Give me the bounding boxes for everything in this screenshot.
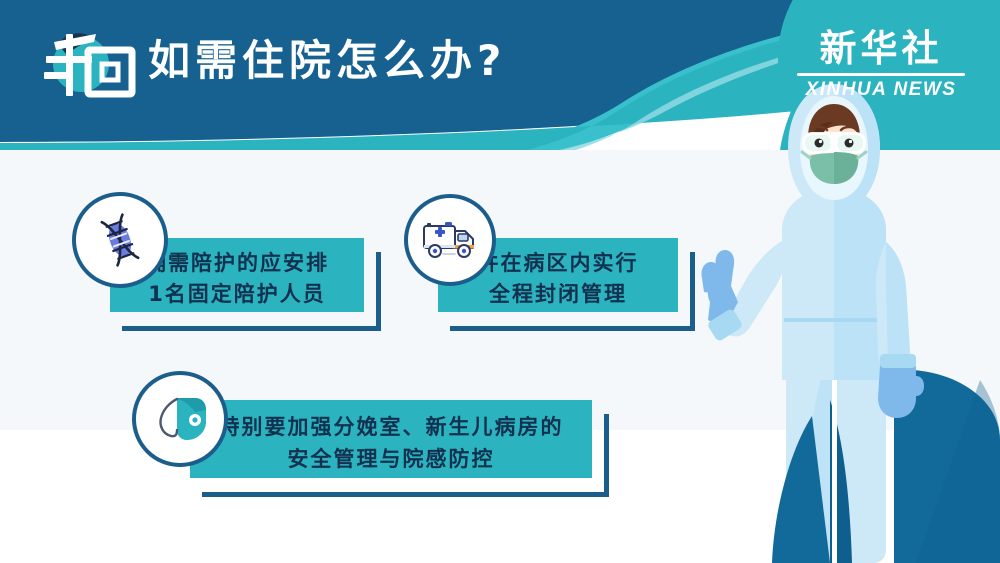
medical-worker-illustration [680,80,1000,563]
ambulance-glyph [421,218,479,262]
kepu-logo-icon [36,24,140,108]
card-line-2: 安全管理与院感防控 [190,443,592,475]
card-line-2: 1名固定陪护人员 [110,279,364,310]
card-line-1: 特别要加强分娩室、新生儿病房的 [190,411,592,443]
infographic-poster: 如需住院怎么办? 新华社 XINHUA NEWS [0,0,1000,563]
brand-name-en: XINHUA NEWS [786,79,976,101]
n95-mask-glyph [151,394,209,444]
brand-name-cn: 新华社 [786,28,976,70]
page-title: 如需住院怎么办? [148,33,506,89]
card-text: 特别要加强分娩室、新生儿病房的 安全管理与院感防控 [190,411,592,475]
goggles [802,132,866,154]
medical-worker-figure [680,80,1000,563]
dna-icon [72,192,168,288]
brand-divider [797,73,965,76]
kepu-logo [36,24,140,108]
card-line-2: 全程封闭管理 [438,279,678,310]
xinhua-brand: 新华社 XINHUA NEWS [786,28,976,101]
n95-mask-icon [132,371,228,467]
dna-helix-glyph [91,211,149,269]
ambulance-icon [404,194,496,286]
